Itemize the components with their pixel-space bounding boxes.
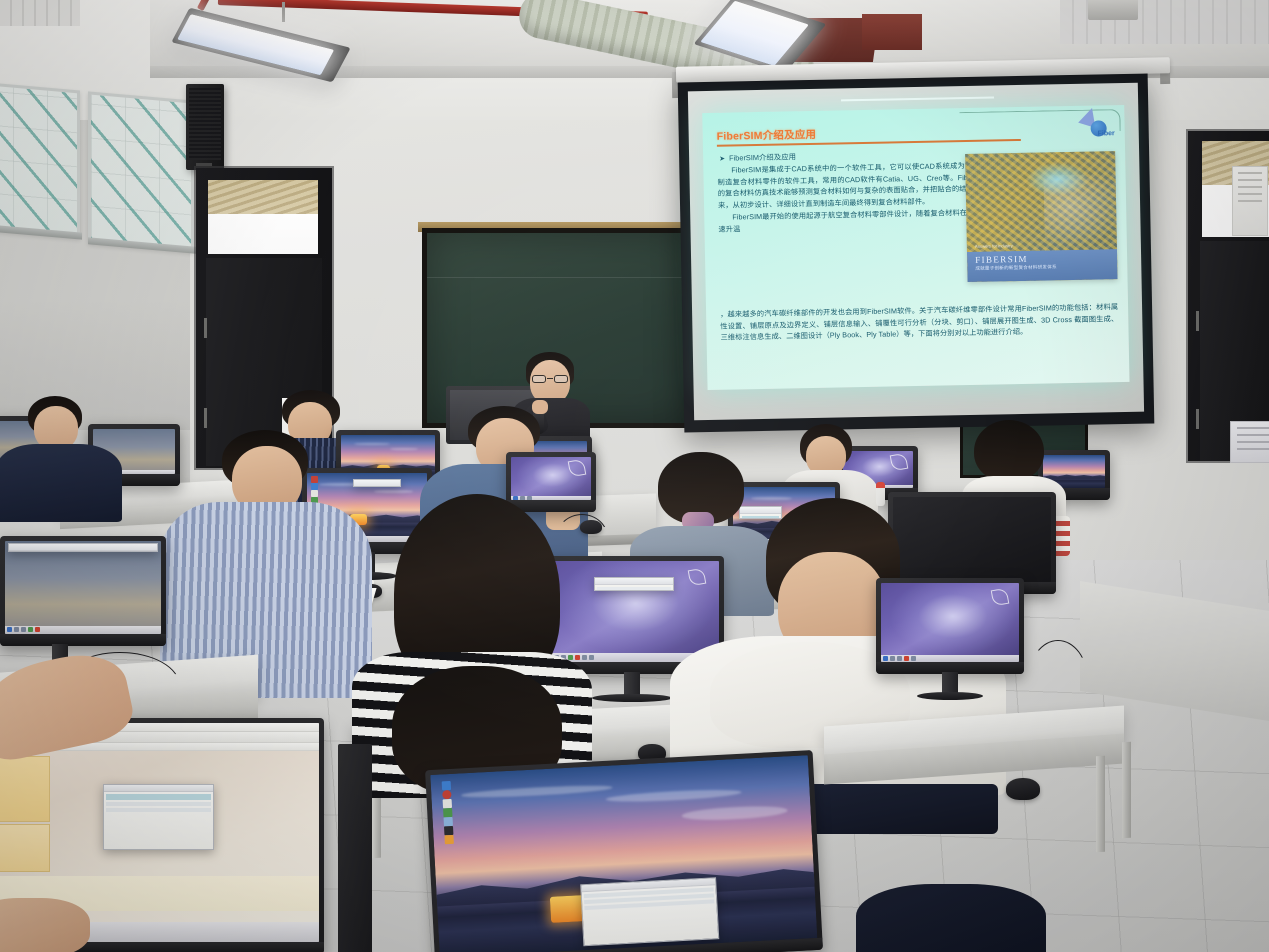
foreground-hand <box>0 898 90 952</box>
wall-speaker <box>186 84 224 170</box>
student-blue-shirt <box>160 430 372 690</box>
screen-hairline <box>841 96 994 101</box>
slide-title: FiberSIM介绍及应用 <box>717 123 1021 145</box>
projection-screen: Fiber FiberSIM介绍及应用 ➤ FiberSIM介绍及应用 Fibe… <box>678 74 1155 433</box>
monitor-right-purple-c <box>876 578 1024 674</box>
logo-text: Fiber <box>1098 130 1115 137</box>
student-hair <box>974 420 1044 482</box>
foreground-person-right <box>856 884 1046 952</box>
monitor-foreground-sunset <box>425 750 823 952</box>
mouse[interactable] <box>1006 778 1040 800</box>
cloud-icon <box>682 804 788 822</box>
illustration-caption: FIBERSIM 成就量子创新的新型复合材料研发体系 <box>967 249 1118 282</box>
monitor-foreground-grayblue <box>0 536 166 646</box>
monitor-screen <box>881 583 1019 662</box>
cloud-icon <box>374 490 412 493</box>
projection-screen-mat: Fiber FiberSIM介绍及应用 ➤ FiberSIM介绍及应用 Fibe… <box>688 83 1144 421</box>
dialog-row[interactable] <box>106 808 212 812</box>
door-notice-sign <box>1230 421 1269 463</box>
illustration-caption-sub: 成就量子创新的新型复合材料研发体系 <box>975 263 1109 272</box>
window-titlebar[interactable] <box>594 577 674 591</box>
sailboat-icon <box>567 459 586 478</box>
student-torso <box>0 444 122 522</box>
wall-glass-panel-2 <box>88 91 194 252</box>
window-titlebar-strip[interactable] <box>104 785 214 792</box>
classroom-photo: Fiber FiberSIM介绍及应用 ➤ FiberSIM介绍及应用 Fibe… <box>0 0 1269 952</box>
illustration-brandline: Answers for industry. <box>975 243 1014 249</box>
wall-notice-sign <box>1232 166 1268 236</box>
dialog-window[interactable] <box>580 877 719 946</box>
app-tree-panel[interactable] <box>0 756 50 822</box>
door-hinge-lower <box>204 408 207 428</box>
cloud-icon <box>605 788 741 804</box>
duct-collar-2 <box>862 14 922 50</box>
monitor-screen <box>5 541 161 634</box>
eyeglasses-icon <box>531 375 569 383</box>
door-hinge-upper <box>204 318 207 338</box>
chevron-right-icon: ➤ <box>719 154 725 162</box>
speaker-badge <box>196 163 212 166</box>
door-hinge-lower <box>1196 409 1199 429</box>
sailboat-icon <box>991 588 1010 607</box>
door-slab[interactable] <box>1200 241 1269 461</box>
window-titlebar-strip <box>9 544 157 551</box>
chalkboard-seam <box>427 277 687 278</box>
cloud-icon <box>461 784 612 799</box>
desk-leg <box>1122 742 1131 838</box>
ceiling-grid-panel-left <box>0 0 80 26</box>
cloud-icon <box>390 448 418 450</box>
window-titlebar-strip <box>595 578 673 585</box>
dialog-row[interactable] <box>106 802 212 806</box>
desk-leg <box>1096 756 1105 852</box>
transom-blind <box>208 180 318 214</box>
fibersim-logo: Fiber <box>1056 109 1119 138</box>
wallpaper-purple <box>881 583 1019 662</box>
student-striped-top <box>352 494 592 794</box>
dialog-window[interactable] <box>103 784 215 850</box>
presentation-slide: Fiber FiberSIM介绍及应用 ➤ FiberSIM介绍及应用 Fibe… <box>702 105 1129 390</box>
door-transom-window <box>208 180 318 254</box>
wallpaper-grayblue <box>5 541 161 634</box>
slide-illustration-carbon-fiber: Answers for industry. FIBERSIM 成就量子创新的新型… <box>965 151 1117 282</box>
door-hinge-upper <box>1196 311 1199 331</box>
app-properties-panel[interactable] <box>0 824 50 872</box>
window-titlebar[interactable] <box>8 543 158 552</box>
slide-body-wide: ，越来越多的汽车碳纤维部件的开发也会用到FiberSIM软件。关于汽车碳纤维零部… <box>720 301 1119 344</box>
slide-paragraph-3: ，越来越多的汽车碳纤维部件的开发也会用到FiberSIM软件。关于汽车碳纤维零部… <box>720 301 1119 343</box>
pipe-hanger <box>282 2 285 22</box>
dialog-row <box>597 587 671 591</box>
taskbar[interactable] <box>5 626 161 634</box>
sailboat-icon <box>890 453 909 472</box>
monitor-screen <box>430 755 817 952</box>
slide-bullet-label: FiberSIM介绍及应用 <box>729 151 796 163</box>
speaker-grill-icon <box>189 88 221 160</box>
dialog-header-row <box>106 794 212 800</box>
student-navy-left <box>6 396 122 518</box>
illustration-sheen <box>1044 174 1118 252</box>
monitor-chin <box>0 634 166 646</box>
taskbar[interactable] <box>881 655 1019 662</box>
slide-bullet-heading: ➤ FiberSIM介绍及应用 <box>719 151 796 163</box>
slide-title-underline: FiberSIM介绍及应用 <box>717 123 1021 147</box>
monitor-stand-base <box>917 692 983 700</box>
wall-glass-panel-1 <box>0 81 80 238</box>
emergency-light <box>1088 0 1138 20</box>
monitor-stand-neck <box>942 672 958 694</box>
pc-tower <box>338 744 372 952</box>
monitor-stand-base <box>592 694 672 702</box>
